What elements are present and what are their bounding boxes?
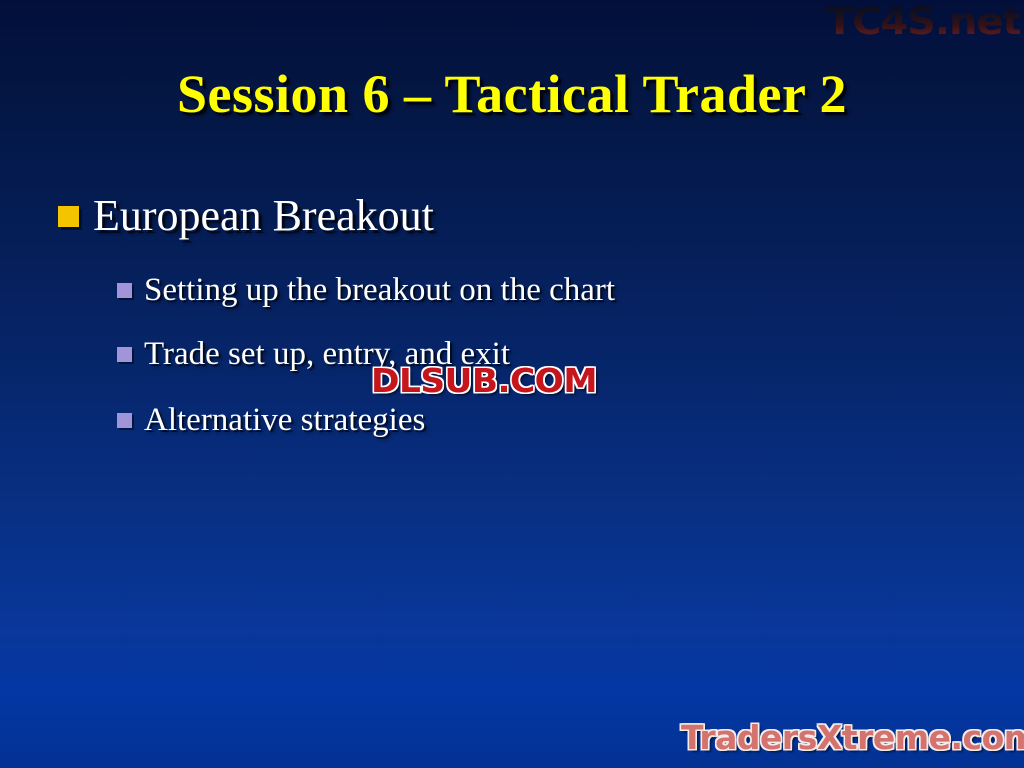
- lilac-square-bullet-icon: [117, 413, 132, 428]
- lilac-square-bullet-icon: [117, 347, 132, 362]
- list-item: Alternative strategies: [0, 400, 1024, 462]
- slide-title: Session 6 – Tactical Trader 2: [0, 62, 1024, 126]
- list-item: European Breakout: [0, 190, 1024, 252]
- presentation-slide: TC4S.net Session 6 – Tactical Trader 2 E…: [0, 0, 1024, 768]
- tc4s-watermark: TC4S.net: [826, 0, 1020, 44]
- lilac-square-bullet-icon: [117, 283, 132, 298]
- tradersxtreme-watermark: TradersXtreme.com: [681, 718, 1024, 758]
- dlsub-watermark: DLSUB.COM: [371, 362, 597, 400]
- list-item-label: European Breakout: [93, 190, 434, 242]
- list-item-label: Setting up the breakout on the chart: [144, 270, 615, 310]
- list-item: Setting up the breakout on the chart: [0, 270, 1024, 332]
- list-item-label: Alternative strategies: [144, 400, 425, 440]
- gold-square-bullet-icon: [58, 206, 79, 227]
